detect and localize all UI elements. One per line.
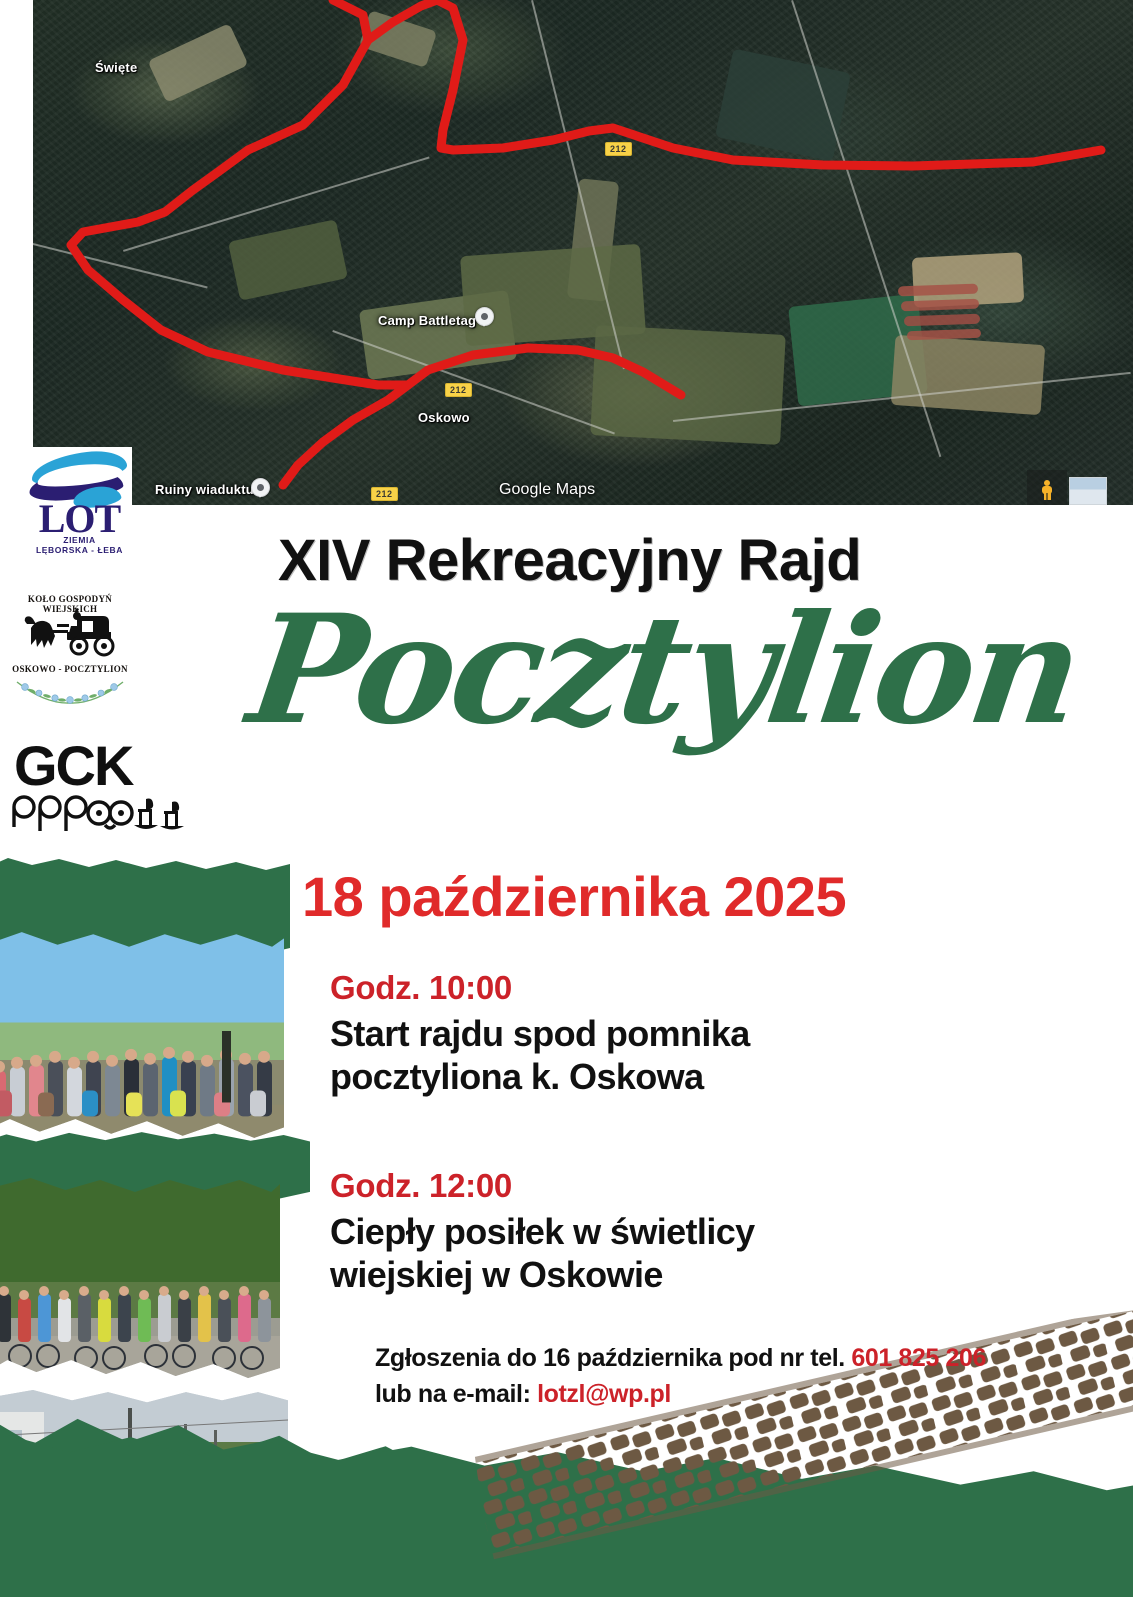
pegman-body — [1041, 480, 1053, 500]
contact-line-email: lub na e-mail: lotzl@wp.pl — [375, 1376, 986, 1412]
contact-email-address[interactable]: lotzl@wp.pl — [537, 1380, 671, 1408]
schedule-desc-2-line1: Ciepły posiłek w świetlicy — [330, 1210, 755, 1253]
page-title-script: Pocztylion — [240, 585, 1089, 755]
route-map[interactable]: Święte Camp Battletag Oskowo Ruiny wiadu… — [33, 0, 1133, 505]
road-shield-212: 212 — [445, 383, 472, 397]
schedule-time-2: Godz. 12:00 — [330, 1166, 755, 1206]
map-pin-ruiny-wiaduktu[interactable] — [251, 478, 268, 500]
logo-kgw: KOŁO GOSPODYŃ WIEJSKICH OSKOWO - POCZTYL… — [5, 592, 135, 707]
lot-wordmark: LOT — [27, 501, 132, 537]
lot-subtitle-line2: LĘBORSKA - ŁEBA — [27, 545, 132, 555]
google-maps-attribution: Google Maps — [499, 481, 595, 499]
contact-email-prefix: lub na e-mail: — [375, 1380, 537, 1408]
pin-tail — [481, 320, 487, 327]
contact-phone-number[interactable]: 601 825 206 — [851, 1344, 986, 1372]
floral-wreath-icon — [13, 678, 127, 704]
map-label-ruiny-wiaduktu: Ruiny wiaduktu — [155, 482, 254, 497]
event-date: 18 października 2025 — [302, 864, 846, 929]
gck-glyph-icon — [8, 791, 184, 831]
photo-crowd-silhouettes — [0, 1274, 280, 1378]
map-label-camp-battletag: Camp Battletag — [378, 313, 476, 328]
schedule-time-1: Godz. 10:00 — [330, 968, 750, 1008]
photo-crowd-silhouettes — [0, 1031, 284, 1140]
logo-lot: LOT ZIEMIA LĘBORSKA - ŁEBA — [27, 447, 132, 559]
pin-tail — [257, 491, 263, 498]
contact-info: Zgłoszenia do 16 października pod nr tel… — [375, 1340, 986, 1412]
map-field — [590, 325, 785, 445]
gck-wordmark: GCK — [14, 737, 184, 795]
schedule-desc-1-line1: Start rajdu spod pomnika — [330, 1012, 750, 1055]
poster-canvas: Święte Camp Battletag Oskowo Ruiny wiadu… — [0, 0, 1133, 1597]
road-shield-212: 212 — [371, 487, 398, 501]
horse-carriage-icon — [19, 608, 123, 660]
contact-phone-prefix: Zgłoszenia do 16 października pod nr tel… — [375, 1344, 851, 1372]
kgw-bottom-text: OSKOWO - POCZTYLION — [5, 664, 135, 674]
pegman-legs — [1044, 493, 1051, 500]
lot-subtitle: ZIEMIA LĘBORSKA - ŁEBA — [27, 535, 132, 555]
pegman-icon[interactable] — [1027, 470, 1067, 505]
photo-group-trees — [0, 1178, 280, 1378]
map-thumbnail[interactable] — [1069, 477, 1107, 505]
road-shield-212: 212 — [605, 142, 632, 156]
logo-gck: GCK — [8, 737, 184, 829]
map-pin-camp-battletag[interactable] — [475, 307, 492, 329]
schedule-desc-2-line2: wiejskiej w Oskowie — [330, 1253, 755, 1296]
photo-group-viewpoint — [0, 930, 284, 1140]
schedule-desc-1-line2: pocztyliona k. Oskowa — [330, 1055, 750, 1098]
contact-line-phone: Zgłoszenia do 16 października pod nr tel… — [375, 1340, 986, 1376]
schedule-item-1: Godz. 10:00 Start rajdu spod pomnika poc… — [330, 968, 750, 1098]
map-label-swiete: Święte — [95, 60, 137, 75]
lot-subtitle-line1: ZIEMIA — [27, 535, 132, 545]
schedule-item-2: Godz. 12:00 Ciepły posiłek w świetlicy w… — [330, 1166, 755, 1296]
map-label-oskowo: Oskowo — [418, 410, 470, 425]
